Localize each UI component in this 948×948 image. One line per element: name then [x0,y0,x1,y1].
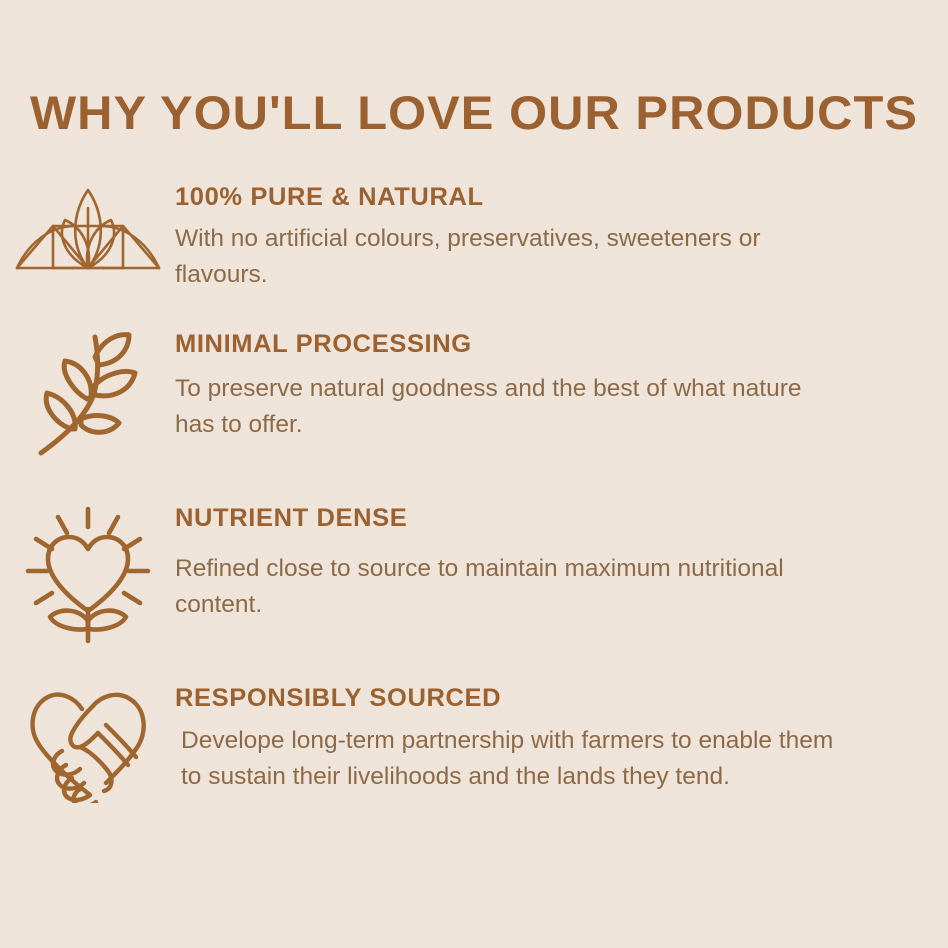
page-title: WHY YOU'LL LOVE OUR PRODUCTS [0,85,948,141]
leaf-branch-icon [0,329,175,459]
promo-benefits-panel: WHY YOU'LL LOVE OUR PRODUCTS [0,0,948,948]
feature-description: Refined close to source to maintain maxi… [175,551,835,623]
feature-item: RESPONSIBLY SOURCED Develope long-term p… [0,683,948,803]
feature-description: With no artificial colours, preservative… [175,221,815,293]
feature-text: MINIMAL PROCESSING To preserve natural g… [175,329,948,443]
feature-list: 100% PURE & NATURAL With no artificial c… [0,182,948,803]
feature-title: RESPONSIBLY SOURCED [175,683,923,713]
feature-item: 100% PURE & NATURAL With no artificial c… [0,182,948,293]
feature-title: 100% PURE & NATURAL [175,182,923,212]
lotus-flower-icon [0,182,175,278]
feature-text: RESPONSIBLY SOURCED Develope long-term p… [175,683,948,795]
feature-description: Develope long-term partnership with farm… [175,723,841,795]
feature-text: NUTRIENT DENSE Refined close to source t… [175,503,948,623]
feature-title: MINIMAL PROCESSING [175,329,923,359]
feature-item: MINIMAL PROCESSING To preserve natural g… [0,329,948,459]
feature-description: To preserve natural goodness and the bes… [175,371,815,443]
heart-flower-icon [0,503,175,645]
feature-title: NUTRIENT DENSE [175,503,923,533]
heart-handshake-icon [0,683,175,803]
feature-item: NUTRIENT DENSE Refined close to source t… [0,503,948,645]
feature-text: 100% PURE & NATURAL With no artificial c… [175,182,948,293]
